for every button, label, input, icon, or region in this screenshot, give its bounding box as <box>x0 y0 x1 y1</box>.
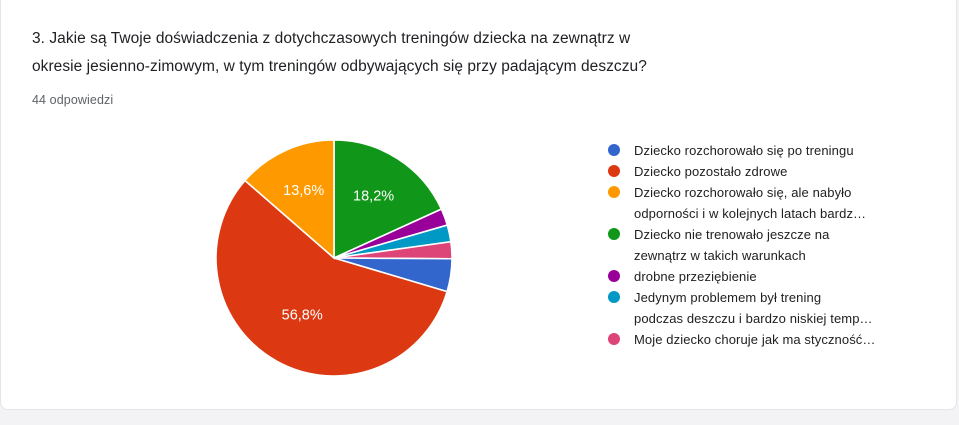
pie-slice-label: 18,2% <box>353 188 394 204</box>
legend-item[interactable]: Dziecko rozchorowało się po treningu <box>608 140 938 161</box>
chart-legend: Dziecko rozchorowało się po treninguDzie… <box>608 140 938 350</box>
legend-item[interactable]: Dziecko pozostało zdrowe <box>608 161 938 182</box>
legend-item[interactable]: Moje dziecko choruje jak ma styczność… <box>608 329 938 350</box>
legend-item[interactable]: Jedynym problemem był trening podczas de… <box>608 287 938 329</box>
pie-chart: 18,2%56,8%13,6% Dziecko rozchorowało się… <box>1 0 958 411</box>
legend-color-swatch-icon <box>608 270 620 282</box>
question-result-card: 3. Jakie są Twoje doświadczenia z dotych… <box>0 0 957 410</box>
pie-slice-label: 56,8% <box>282 308 323 324</box>
legend-item-label: Moje dziecko choruje jak ma styczność… <box>634 329 938 350</box>
legend-item[interactable]: Dziecko nie trenowało jeszcze na zewnątr… <box>608 224 938 266</box>
legend-color-swatch-icon <box>608 228 620 240</box>
legend-item[interactable]: Dziecko rozchorowało się, ale nabyło odp… <box>608 182 938 224</box>
legend-color-swatch-icon <box>608 333 620 345</box>
legend-item-label: Dziecko pozostało zdrowe <box>634 161 938 182</box>
legend-item-label: Dziecko nie trenowało jeszcze na zewnątr… <box>634 224 938 266</box>
legend-item-label: Dziecko rozchorowało się, ale nabyło odp… <box>634 182 938 224</box>
legend-item-label: Dziecko rozchorowało się po treningu <box>634 140 938 161</box>
legend-item[interactable]: drobne przeziębienie <box>608 266 938 287</box>
legend-color-swatch-icon <box>608 186 620 198</box>
pie-chart-svg: 18,2%56,8%13,6% <box>191 127 481 392</box>
legend-color-swatch-icon <box>608 144 620 156</box>
legend-item-label: drobne przeziębienie <box>634 266 938 287</box>
legend-color-swatch-icon <box>608 165 620 177</box>
legend-color-swatch-icon <box>608 291 620 303</box>
pie-slice-group <box>216 140 452 376</box>
legend-item-label: Jedynym problemem był trening podczas de… <box>634 287 938 329</box>
pie-slice-label: 13,6% <box>283 183 324 199</box>
